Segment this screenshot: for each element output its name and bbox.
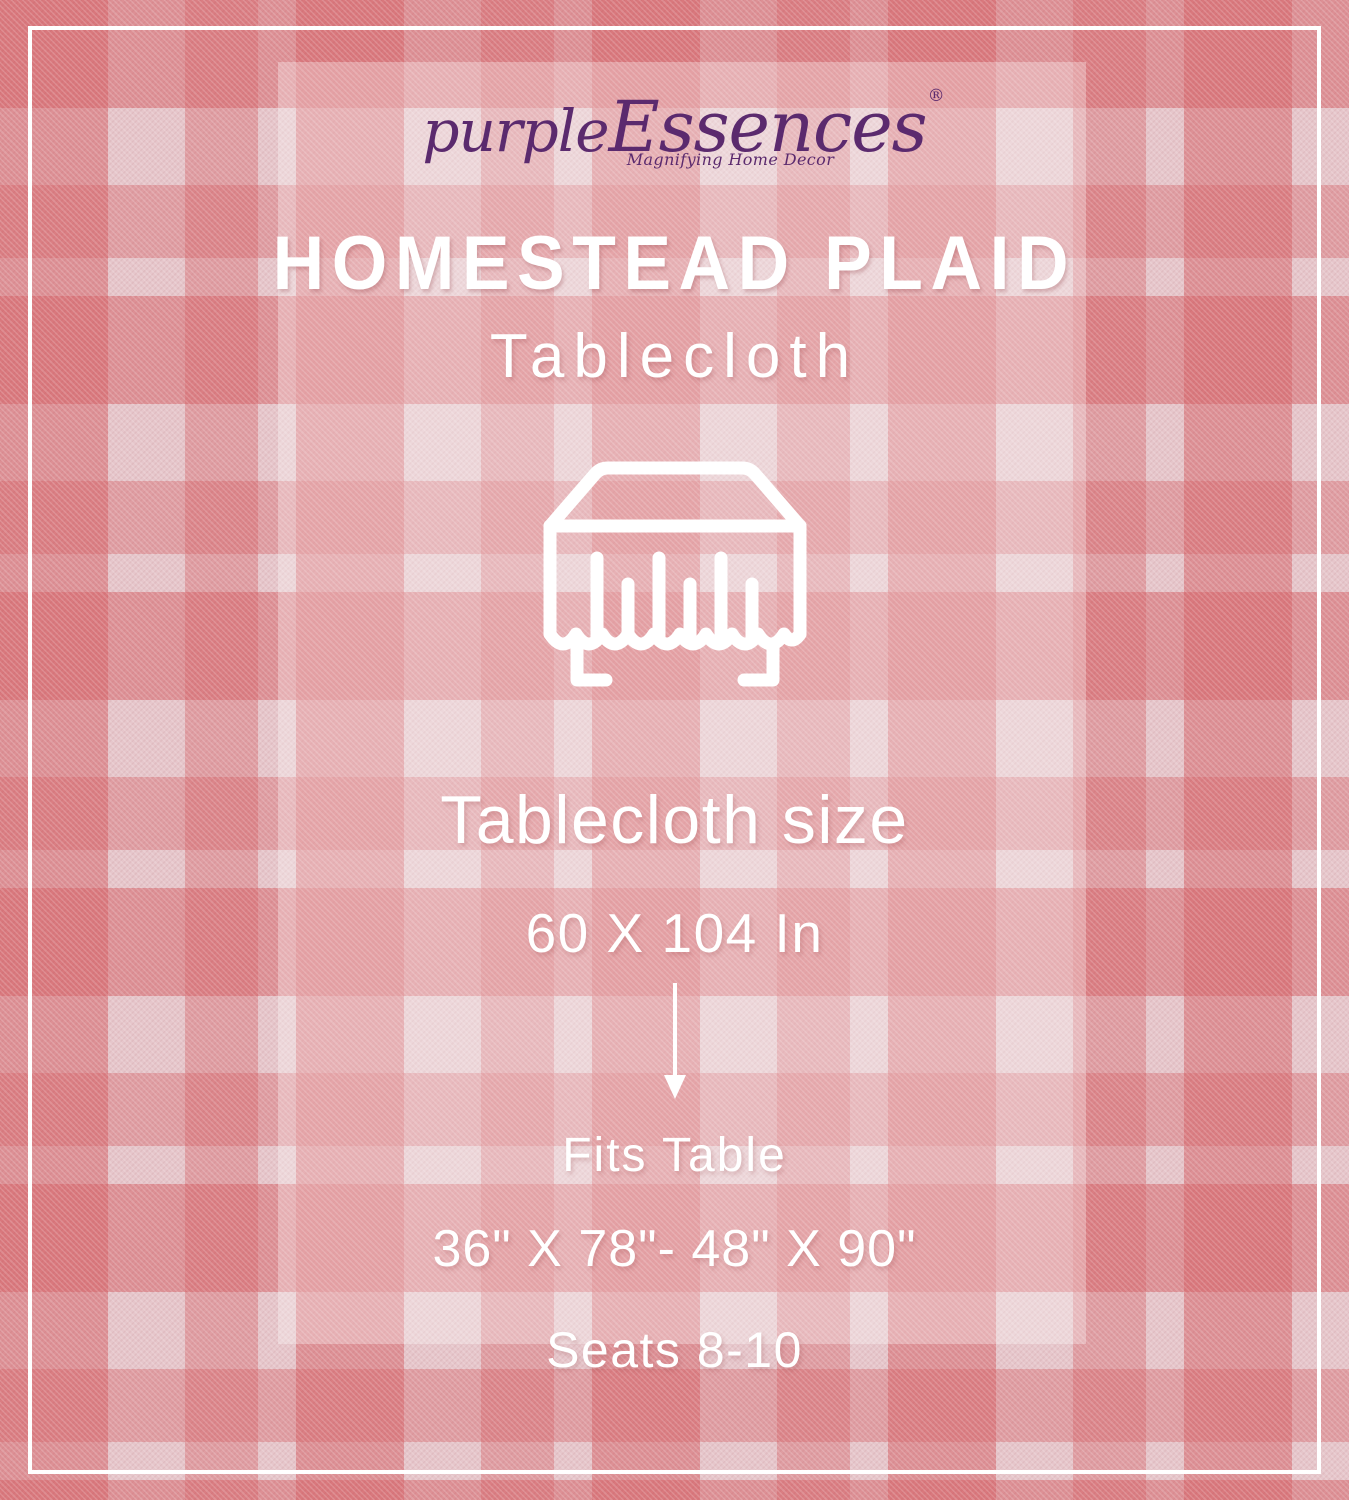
product-subtitle: Tablecloth: [490, 321, 859, 392]
size-heading: Tablecloth size: [440, 781, 909, 859]
brand-name-part1: purple: [422, 97, 608, 165]
product-infographic: purpleEssences® Magnifying Home Decor HO…: [0, 0, 1349, 1500]
fits-table-label: Fits Table: [562, 1128, 787, 1183]
seats-capacity: Seats 8-10: [546, 1321, 803, 1379]
draped-tablecloth-icon: [520, 458, 830, 695]
brand-name-part2: Essences: [609, 86, 927, 168]
content-column: purpleEssences® Magnifying Home Decor HO…: [0, 0, 1349, 1500]
product-title: HOMESTEAD PLAID: [273, 220, 1076, 307]
registered-trademark-icon: ®: [928, 88, 944, 105]
down-arrow-icon: [658, 983, 692, 1106]
brand-logo: purpleEssences® Magnifying Home Decor: [422, 92, 926, 168]
brand-wordmark: purpleEssences®: [422, 92, 926, 162]
fits-table-dimensions: 36" X 78"- 48" X 90": [432, 1219, 916, 1279]
size-value: 60 X 104 In: [526, 901, 824, 965]
